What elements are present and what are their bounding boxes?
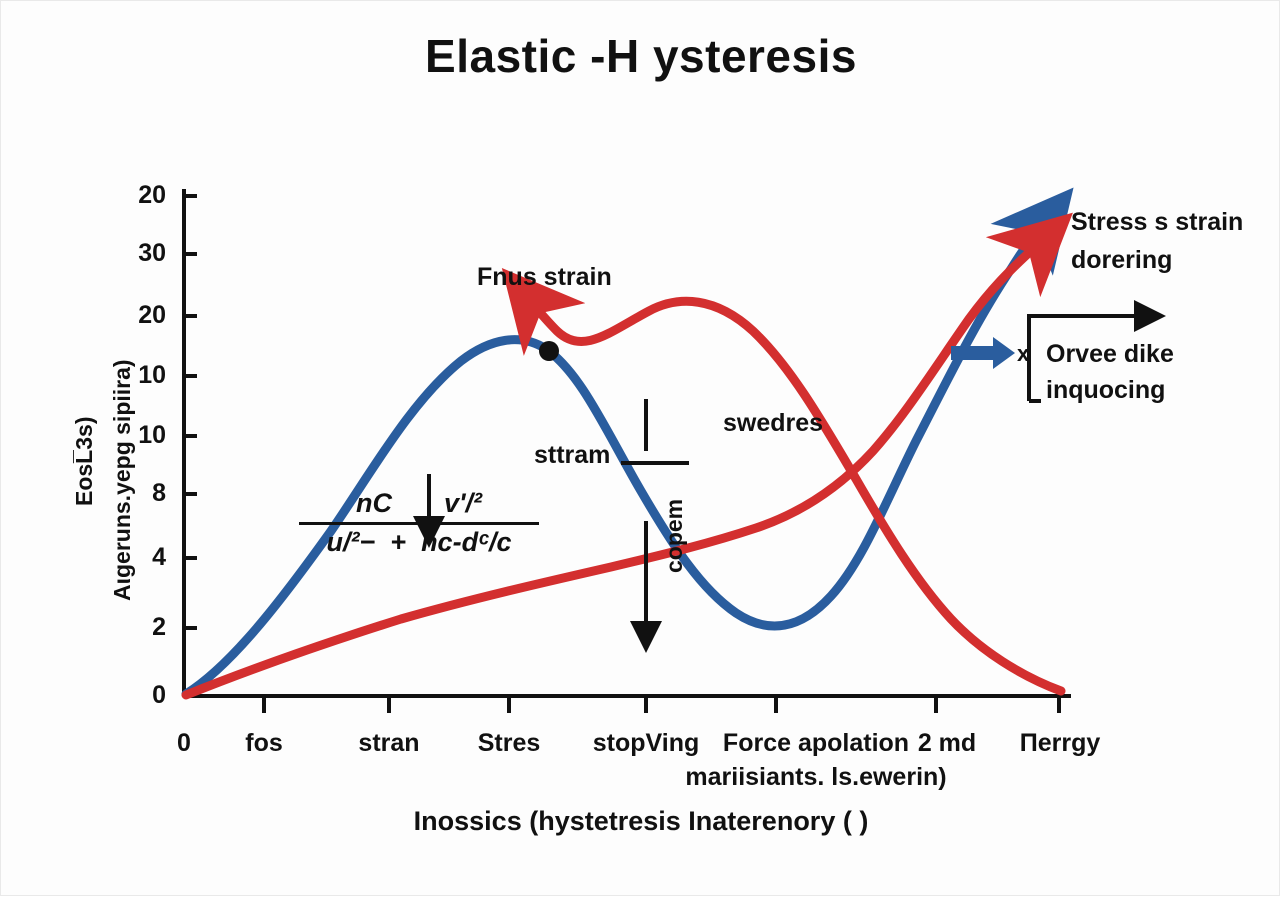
- annotation-copem: copem: [661, 499, 688, 573]
- legend-stress-strain-line2: dorering: [1071, 245, 1172, 276]
- equation-denominator-mid: +: [390, 527, 406, 557]
- plot-area: [1, 1, 1280, 897]
- x-axis-ticks: [264, 696, 1059, 713]
- ytick-label-7: 2: [111, 613, 166, 642]
- x-axis-title: Inossics (hystetresis Inaterenory ( ): [1, 806, 1280, 837]
- xtick-sublabel: mariisiants. ls.ewerin): [646, 763, 986, 792]
- annotation-sttram: sttram: [534, 441, 610, 470]
- xtick-label-5: Force apolation: [711, 729, 921, 758]
- xtick-label-4: stopVing: [571, 729, 721, 758]
- legend-orvee-line1: Orvee dike: [1046, 339, 1174, 370]
- equation-fraction-bar: [299, 522, 539, 525]
- xtick-label-3: Stres: [451, 729, 567, 758]
- figure-canvas: Elastic -H ysteresis: [0, 0, 1280, 896]
- annotation-fnus-strain: Fnus strain: [477, 263, 612, 292]
- ytick-label-8: 0: [111, 681, 166, 710]
- ytick-label-1: 30: [111, 239, 166, 268]
- equation-numerator-right: v'/²: [444, 488, 482, 518]
- xtick-label-7: Πerrgy: [1001, 729, 1119, 758]
- xtick-label-1: fos: [219, 729, 309, 758]
- y-axis-title-line1: EosL̅3s): [71, 417, 98, 506]
- ytick-label-2: 20: [111, 301, 166, 330]
- xtick-label-6: 2 md: [901, 729, 993, 758]
- equation-numerator-left: nC: [356, 488, 392, 518]
- ytick-label-0: 20: [111, 181, 166, 210]
- xtick-label-0: 0: [154, 729, 214, 758]
- peak-point-marker: [539, 341, 559, 361]
- legend-orvee-line2: inquocing: [1046, 375, 1165, 406]
- sttram-leader: [621, 399, 689, 463]
- y-axis-title-line2: Aιgeruns.yepg sipiira): [109, 359, 136, 601]
- annotation-swedres: swedres: [723, 409, 823, 438]
- equation-annotation: nCv'/² u/²− + hc-dᶜ/c: [299, 488, 539, 558]
- xtick-label-2: stran: [334, 729, 444, 758]
- equation-denominator-left: u/²−: [326, 527, 375, 557]
- legend-x-marker: x: [1017, 341, 1029, 368]
- equation-denominator-right: hc-dᶜ/c: [421, 527, 511, 557]
- axis-lines: [184, 189, 1071, 696]
- series-loading-curve-blue: [186, 229, 1039, 694]
- legend-stress-strain-line1: Stress s strain: [1071, 207, 1243, 238]
